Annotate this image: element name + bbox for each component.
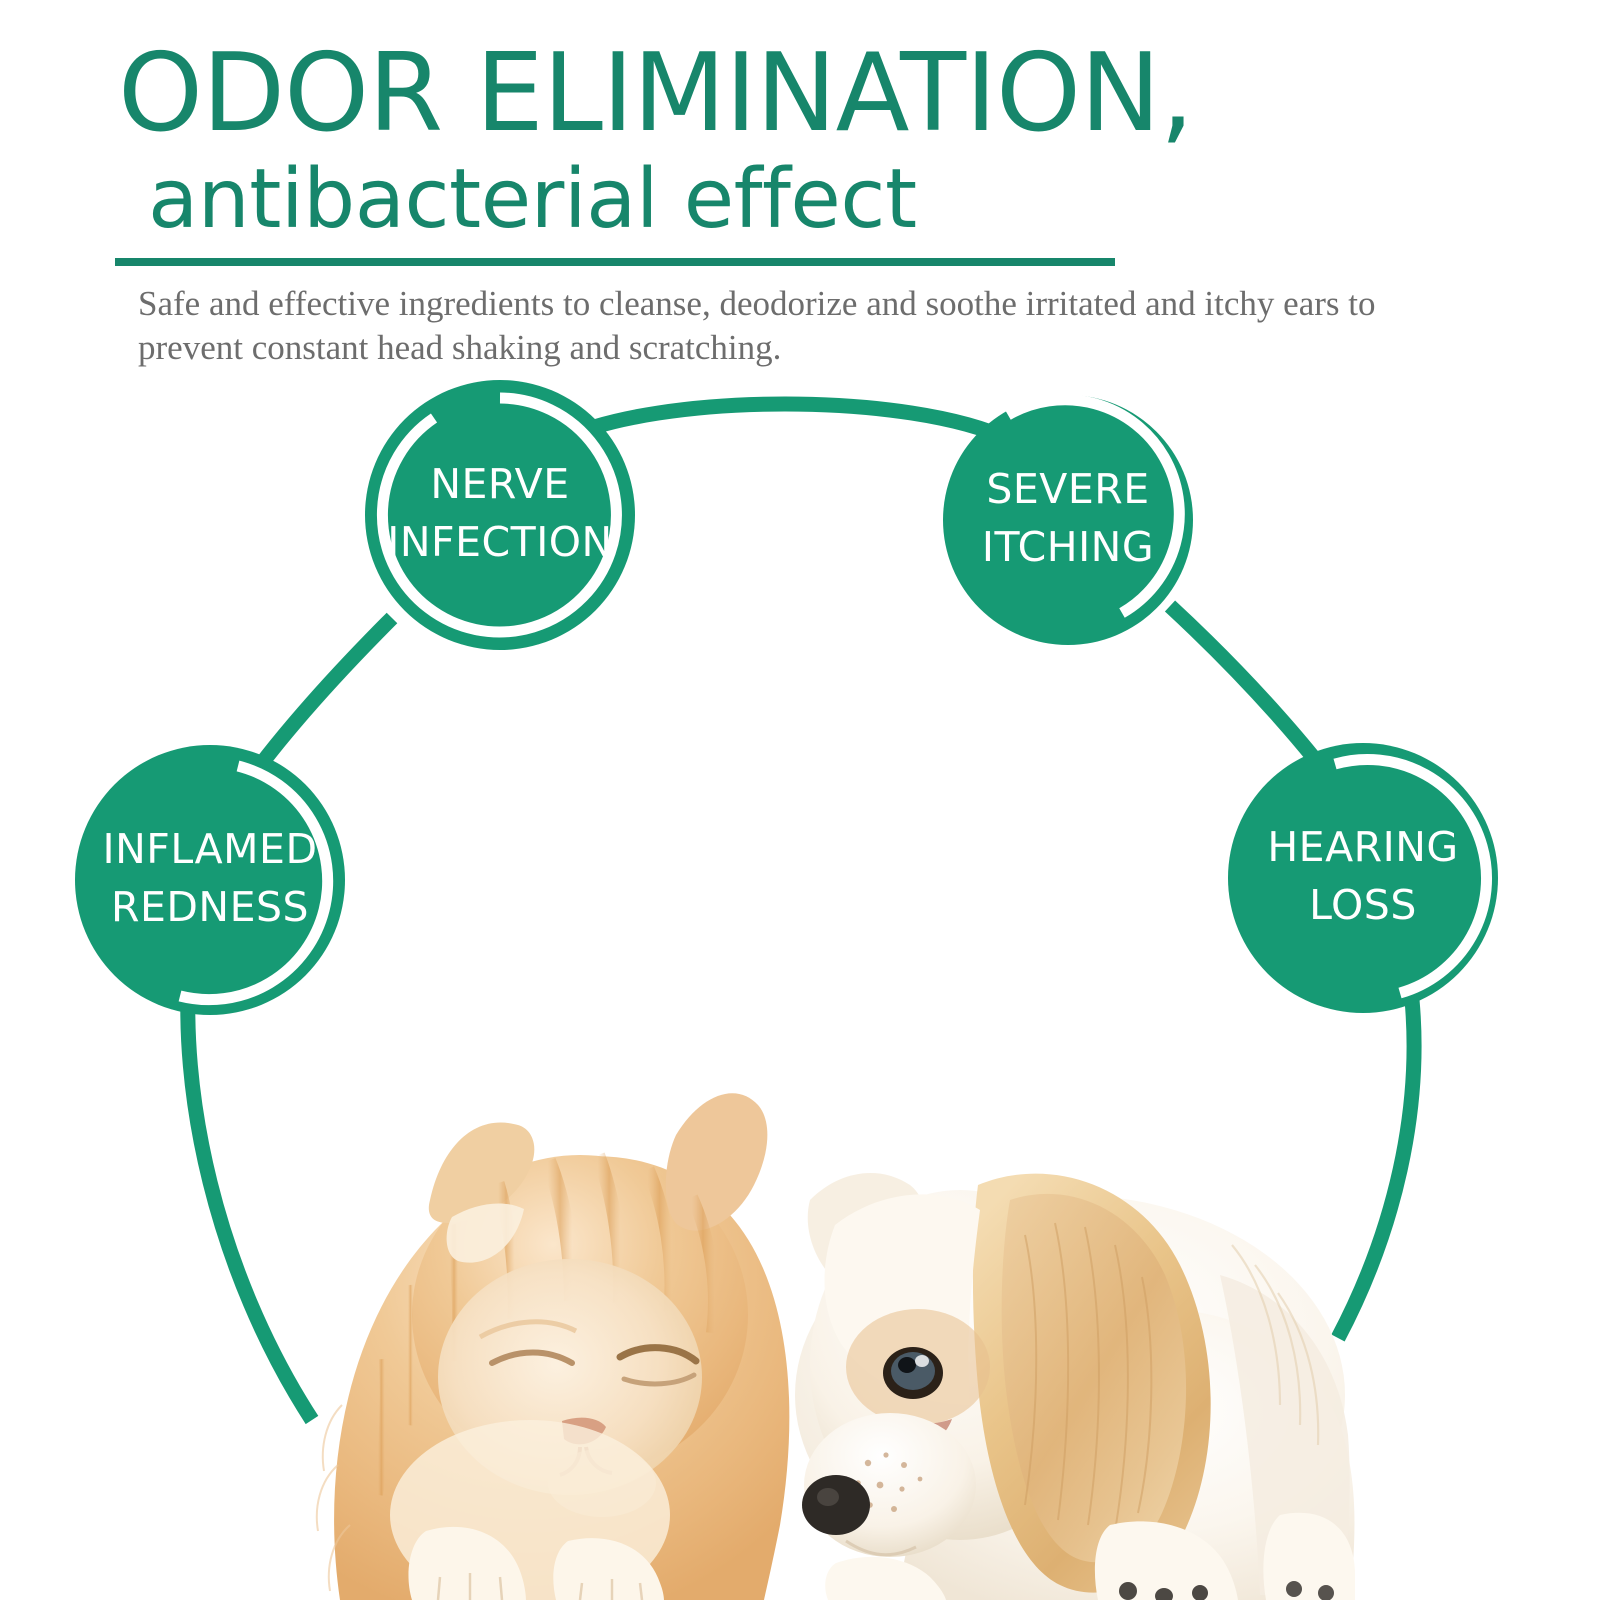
badge-inflamed-redness bbox=[75, 745, 345, 1015]
arc-nerve-to-itching bbox=[560, 404, 1010, 440]
badge-severe-itching bbox=[943, 395, 1193, 645]
badge-nerve-infection bbox=[365, 380, 635, 650]
kitten bbox=[317, 1093, 790, 1600]
badge-severe-itching-disc bbox=[943, 395, 1193, 645]
puppy bbox=[795, 1173, 1355, 1600]
pet-photo bbox=[280, 985, 1355, 1600]
badge-hearing-loss bbox=[1228, 743, 1498, 1013]
badge-nerve-infection-disc bbox=[365, 380, 635, 650]
badge-inflamed-redness-disc bbox=[75, 745, 345, 1015]
badge-hearing-loss-disc bbox=[1228, 743, 1498, 1013]
infographic-page: ODOR ELIMINATION, antibacterial effect S… bbox=[0, 0, 1600, 1600]
